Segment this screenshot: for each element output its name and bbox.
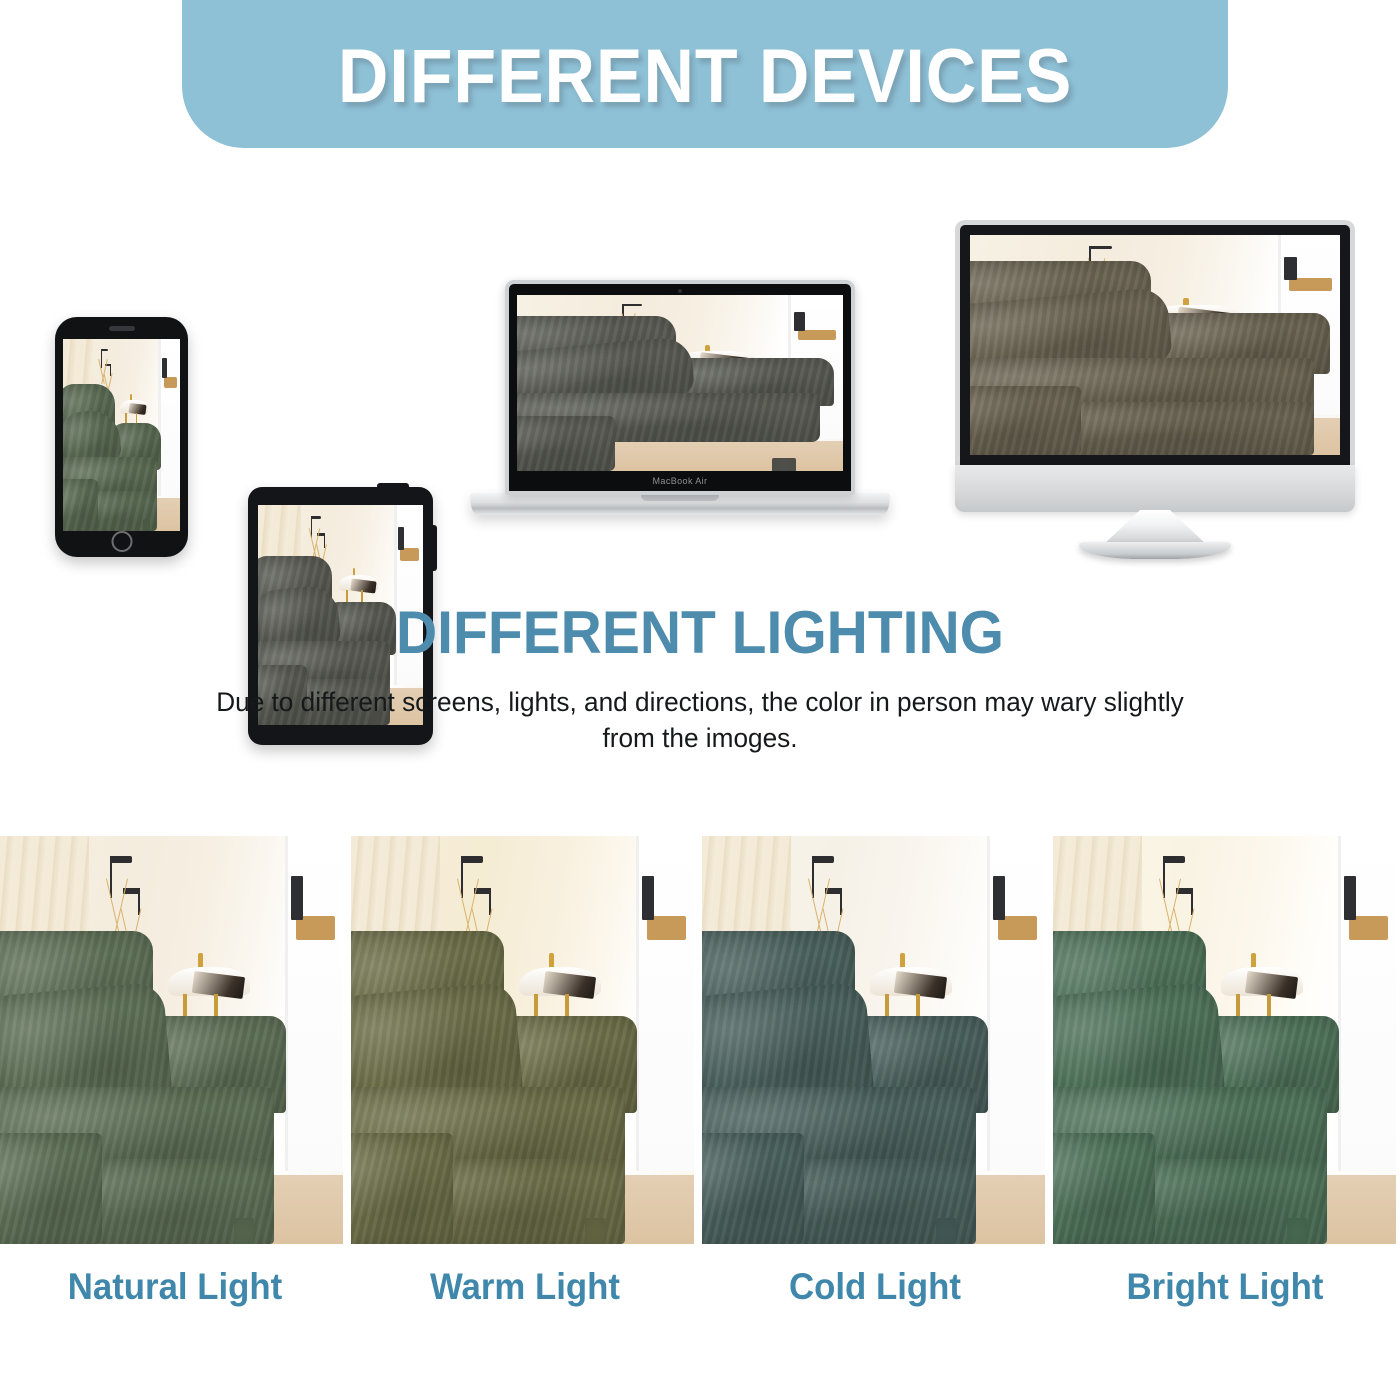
laptop-screen bbox=[517, 295, 843, 471]
gallery-cell-warm bbox=[351, 836, 694, 1244]
phone-screen bbox=[63, 339, 180, 531]
gallery-cell-cold bbox=[702, 836, 1045, 1244]
lighting-description: Due to different screens, lights, and di… bbox=[210, 684, 1190, 757]
product-photo-cold bbox=[702, 836, 1045, 1244]
laptop-brand-label: MacBook Air bbox=[509, 476, 851, 486]
sofa bbox=[970, 253, 1314, 455]
device-monitor bbox=[955, 220, 1355, 560]
product-photo-warm bbox=[351, 836, 694, 1244]
webcam-icon bbox=[678, 289, 682, 293]
product-photo-sofa bbox=[63, 339, 180, 531]
monitor-frame bbox=[955, 220, 1355, 465]
room-shelf bbox=[1338, 836, 1396, 1171]
phone-speaker-icon bbox=[109, 326, 135, 331]
room-shelf bbox=[158, 339, 180, 496]
monitor-chin bbox=[955, 465, 1355, 512]
header-banner: DIFFERENT DEVICES bbox=[182, 0, 1228, 148]
label-bright-light: Bright Light bbox=[1061, 1252, 1390, 1322]
gallery-cell-bright bbox=[1053, 836, 1396, 1244]
page-title: DIFFERENT DEVICES bbox=[338, 19, 1072, 120]
tablet-side-button[interactable] bbox=[432, 525, 437, 571]
phone-home-button[interactable] bbox=[111, 531, 132, 552]
device-smartphone bbox=[55, 317, 188, 557]
product-photo-bright bbox=[1053, 836, 1396, 1244]
gallery-cell-natural bbox=[0, 836, 343, 1244]
label-warm-light: Warm Light bbox=[361, 1252, 690, 1322]
monitor-base bbox=[1079, 542, 1231, 559]
sofa bbox=[63, 377, 157, 531]
sofa bbox=[351, 918, 625, 1244]
monitor-screen bbox=[970, 235, 1340, 455]
room-shelf bbox=[987, 836, 1045, 1171]
room-shelf bbox=[285, 836, 343, 1171]
lighting-labels-row: Natural Light Warm Light Cold Light Brig… bbox=[0, 1252, 1400, 1322]
laptop-lid: MacBook Air bbox=[505, 280, 855, 495]
product-photo-natural bbox=[0, 836, 343, 1244]
tablet-power-button[interactable] bbox=[377, 483, 409, 489]
monitor-neck bbox=[1102, 510, 1208, 546]
laptop-hinge-notch bbox=[641, 494, 719, 501]
lighting-gallery bbox=[0, 836, 1400, 1244]
label-natural-light: Natural Light bbox=[11, 1252, 340, 1322]
sofa bbox=[517, 309, 820, 471]
sofa bbox=[702, 918, 976, 1244]
product-photo-sofa bbox=[970, 235, 1340, 455]
sofa bbox=[0, 918, 274, 1244]
sofa bbox=[1053, 918, 1327, 1244]
lighting-title: DIFFERENT LIGHTING bbox=[35, 600, 1365, 666]
product-photo-sofa bbox=[517, 295, 843, 471]
room-shelf bbox=[636, 836, 694, 1171]
devices-row: MacBook Air bbox=[0, 205, 1400, 575]
device-laptop: MacBook Air bbox=[470, 280, 890, 555]
lighting-section: DIFFERENT LIGHTING Due to different scre… bbox=[0, 600, 1400, 757]
label-cold-light: Cold Light bbox=[711, 1252, 1040, 1322]
